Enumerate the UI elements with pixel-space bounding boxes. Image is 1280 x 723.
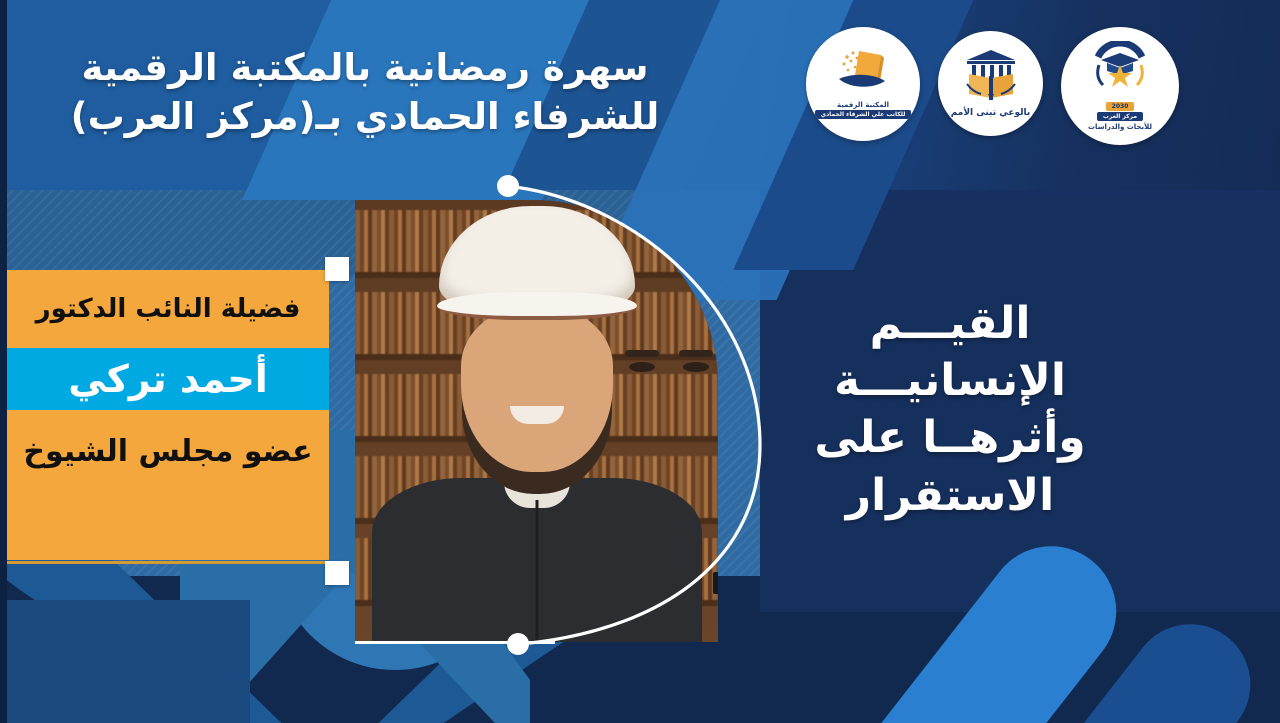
speaker-name-label: أحمد تركي: [68, 357, 268, 401]
poster-headline: سهرة رمضانية بالمكتبة الرقمية للشرفاء ال…: [65, 44, 665, 142]
arab-center-logo[interactable]: 2030 مركز العرب للأبحاث والدراسات: [1061, 27, 1179, 145]
arc-dot-top: [497, 175, 519, 197]
topic-title: القيـــم الإنسانيـــة وأثرهــا على الاست…: [780, 295, 1120, 524]
arab-center-logo-year: 2030: [1106, 102, 1135, 111]
topic-title-line-2: الإنسانيـــة: [780, 352, 1120, 409]
speaker-name-box: أحمد تركي: [7, 348, 329, 410]
topic-title-line-3: وأثرهــا على: [780, 409, 1120, 466]
awareness-logo[interactable]: بالوعي تبنى الأمم: [938, 31, 1043, 136]
speaker-role-label: فضيلة النائب الدكتور: [36, 294, 301, 324]
star-graduation-cap-icon: [1087, 41, 1153, 101]
topic-title-line-1: القيـــم: [780, 295, 1120, 352]
arab-center-logo-subtitle: للأبحاث والدراسات: [1088, 123, 1152, 132]
arab-center-logo-title: مركز العرب: [1097, 112, 1143, 121]
speaker-role-box: فضيلة النائب الدكتور: [7, 270, 329, 348]
awareness-logo-title: بالوعي تبنى الأمم: [951, 108, 1031, 119]
event-poster: سهرة رمضانية بالمكتبة الرقمية للشرفاء ال…: [0, 0, 1280, 723]
digital-library-logo-title: المكتبة الرقمية: [837, 101, 889, 110]
open-book-icon: [837, 49, 889, 99]
decorative-square-marker-bottom: [325, 561, 349, 585]
arc-dot-bottom: [507, 633, 529, 655]
logo-strip: المكتبة الرقمية للكاتب علي الشرفاء الحما…: [806, 27, 1179, 145]
topic-title-line-4: الاستقرار: [780, 467, 1120, 524]
temple-book-pen-icon: [961, 48, 1021, 106]
digital-library-logo[interactable]: المكتبة الرقمية للكاتب علي الشرفاء الحما…: [806, 27, 920, 141]
digital-library-logo-subtitle: للكاتب علي الشرفاء الحمادي: [815, 110, 912, 119]
speaker-position-box: عضو مجلس الشيوخ: [7, 410, 329, 560]
bg-gold-accent-line: [0, 561, 330, 564]
headline-line-2: للشرفاء الحمادي بـ(مركز العرب): [65, 93, 665, 142]
bg-bottom-left-strip: [0, 600, 250, 723]
bg-left-gutter: [0, 0, 7, 723]
decorative-square-marker-top: [325, 257, 349, 281]
decorative-arc: [470, 165, 790, 665]
speaker-position-label: عضو مجلس الشيوخ: [23, 434, 312, 469]
headline-line-1: سهرة رمضانية بالمكتبة الرقمية: [65, 44, 665, 93]
